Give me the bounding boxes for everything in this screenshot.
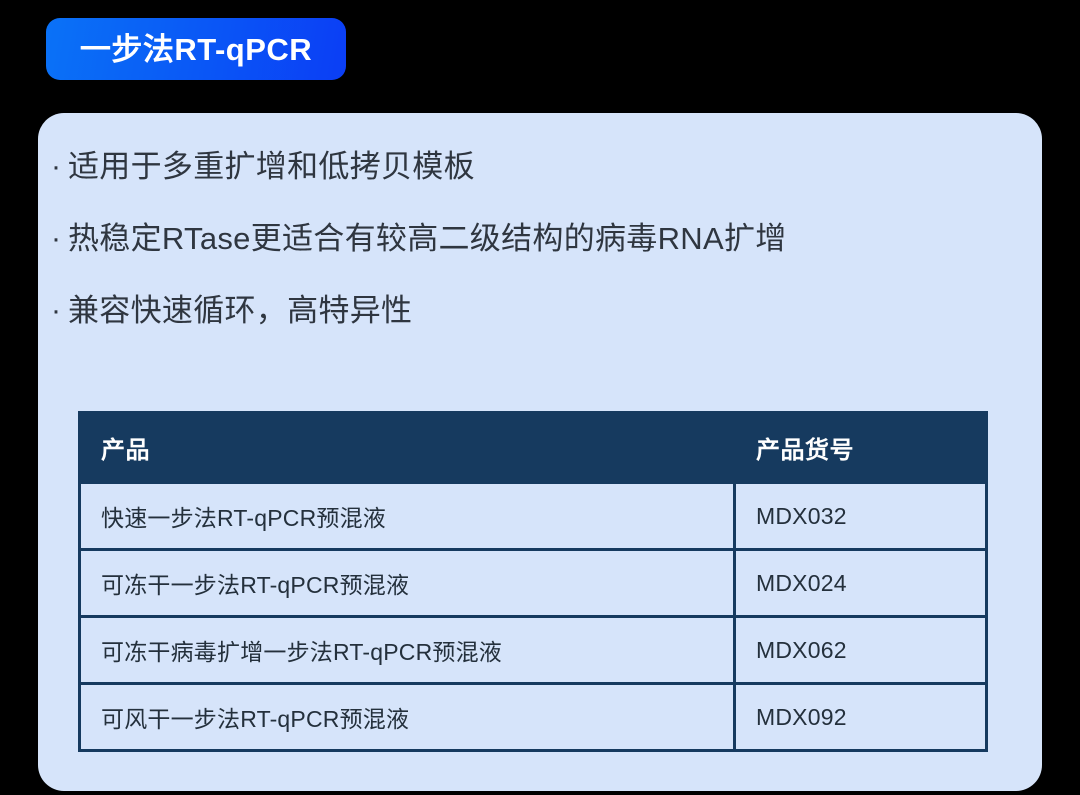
list-item: · 兼容快速循环，高特异性 [51, 287, 1011, 359]
table-body: 快速一步法RT-qPCR预混液 MDX032 可冻干一步法RT-qPCR预混液 … [80, 483, 987, 751]
table-header-row: 产品 产品货号 [80, 413, 987, 483]
section-title-badge: 一步法RT-qPCR [46, 18, 346, 80]
bullet-dot-icon: · [51, 287, 68, 335]
table-header: 产品 产品货号 [80, 413, 987, 483]
cell-product-code: MDX062 [735, 617, 987, 684]
cell-product-name: 可冻干病毒扩增一步法RT-qPCR预混液 [80, 617, 735, 684]
feature-text: 适用于多重扩增和低拷贝模板 [68, 143, 475, 191]
table-row: 可冻干病毒扩增一步法RT-qPCR预混液 MDX062 [80, 617, 987, 684]
table-row: 可冻干一步法RT-qPCR预混液 MDX024 [80, 550, 987, 617]
cell-product-name: 可冻干一步法RT-qPCR预混液 [80, 550, 735, 617]
cell-product-name: 可风干一步法RT-qPCR预混液 [80, 684, 735, 751]
product-table: 产品 产品货号 快速一步法RT-qPCR预混液 MDX032 可冻干一步法RT-… [78, 411, 988, 752]
bullet-dot-icon: · [51, 215, 68, 263]
table-row: 快速一步法RT-qPCR预混液 MDX032 [80, 483, 987, 550]
cell-product-code: MDX032 [735, 483, 987, 550]
feature-text: 热稳定RTase更适合有较高二级结构的病毒RNA扩增 [68, 215, 787, 263]
feature-text: 兼容快速循环，高特异性 [68, 287, 412, 335]
column-header-code: 产品货号 [735, 413, 987, 483]
bullet-dot-icon: · [51, 143, 68, 191]
column-header-product: 产品 [80, 413, 735, 483]
list-item: · 适用于多重扩增和低拷贝模板 [51, 143, 1011, 215]
cell-product-code: MDX092 [735, 684, 987, 751]
cell-product-code: MDX024 [735, 550, 987, 617]
section-title-text: 一步法RT-qPCR [80, 34, 312, 65]
cell-product-name: 快速一步法RT-qPCR预混液 [80, 483, 735, 550]
list-item: · 热稳定RTase更适合有较高二级结构的病毒RNA扩增 [51, 215, 1011, 287]
table-row: 可风干一步法RT-qPCR预混液 MDX092 [80, 684, 987, 751]
content-card: · 适用于多重扩增和低拷贝模板 · 热稳定RTase更适合有较高二级结构的病毒R… [38, 113, 1042, 791]
feature-list: · 适用于多重扩增和低拷贝模板 · 热稳定RTase更适合有较高二级结构的病毒R… [51, 143, 1011, 359]
